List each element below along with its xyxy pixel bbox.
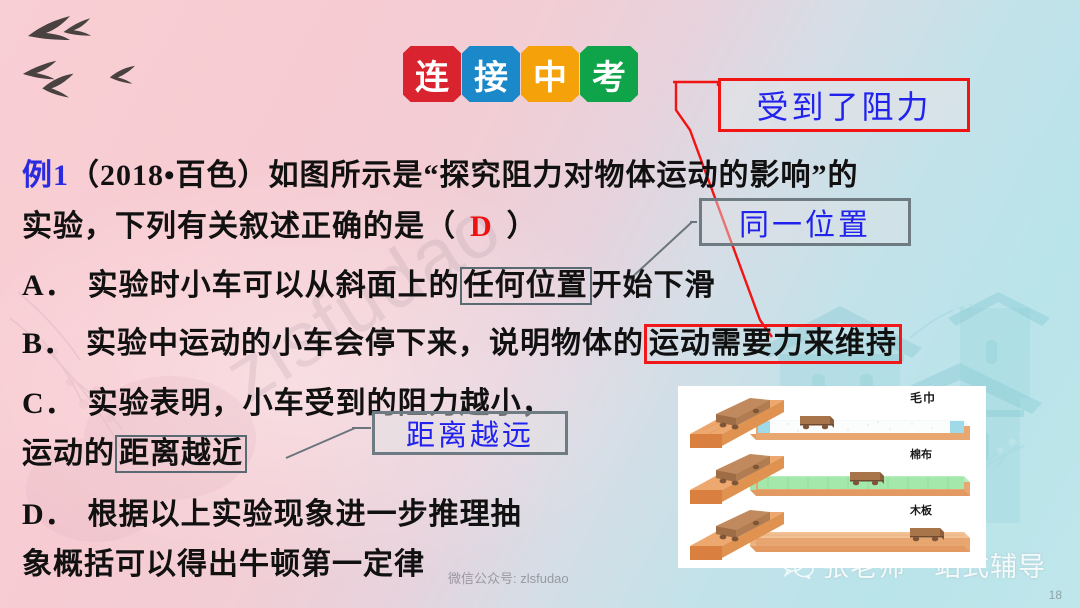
option-c-marker: C． bbox=[22, 387, 76, 420]
answer-letter: D bbox=[456, 210, 507, 243]
page-number: 18 bbox=[1049, 588, 1062, 602]
option-a: A．实验时小车可以从斜面上的任何位置开始下滑 bbox=[22, 260, 716, 305]
option-c-line-2-pre: 运动的 bbox=[22, 437, 115, 470]
birds-decoration bbox=[0, 0, 230, 130]
slide-canvas: zlsfudao 微信公众号: zlsfudao 张老师一站式辅导 18 连 接… bbox=[0, 0, 1080, 608]
annotation-resistance: 受到了阻力 bbox=[718, 78, 970, 132]
example-label: 例1 bbox=[22, 159, 69, 192]
option-d-line-2: 象概括可以得出牛顿第一定律 bbox=[22, 539, 425, 583]
option-d-line-1-text: 根据以上实验现象进一步推理抽 bbox=[88, 498, 522, 531]
question-line-2-post: ） bbox=[507, 210, 538, 243]
title-badge-1: 连 bbox=[403, 46, 461, 102]
option-c-boxed-term: 距离越近 bbox=[115, 435, 247, 473]
question-line-2: 实验，下列有关叙述正确的是（D） bbox=[22, 201, 538, 245]
option-d-marker: D． bbox=[22, 498, 76, 531]
setup-towel: 毛巾 bbox=[690, 390, 970, 448]
title-badge-group: 连 接 中 考 bbox=[403, 46, 638, 102]
figure-label-board: 木板 bbox=[909, 503, 933, 517]
question-line-1-text: （2018•百色）如图所示是“探究阻力对物体运动的影响”的 bbox=[69, 159, 859, 192]
option-b-marker: B． bbox=[22, 327, 74, 360]
figure-label-cloth: 棉布 bbox=[910, 447, 932, 461]
inclined-plane-diagram: 毛巾 bbox=[678, 386, 986, 568]
option-b-pre: 实验中运动的小车会停下来，说明物体的 bbox=[86, 327, 644, 360]
annotation-farther-distance: 距离越远 bbox=[372, 411, 568, 455]
question-line-2-pre: 实验，下列有关叙述正确的是（ bbox=[22, 210, 456, 243]
title-badge-2: 接 bbox=[462, 46, 520, 102]
annotation-same-position: 同一位置 bbox=[699, 198, 911, 246]
question-line-1: 例1（2018•百色）如图所示是“探究阻力对物体运动的影响”的 bbox=[22, 150, 859, 194]
experiment-figure: 毛巾 bbox=[678, 386, 986, 568]
option-d-line-1: D．根据以上实验现象进一步推理抽 bbox=[22, 489, 522, 533]
title-badge-4: 考 bbox=[580, 46, 638, 102]
watermark-wechat-id: 微信公众号: zlsfudao bbox=[448, 568, 569, 587]
option-b-boxed-term: 运动需要力来维持 bbox=[644, 324, 902, 364]
setup-cloth: 棉布 bbox=[690, 447, 970, 504]
option-b: B．实验中运动的小车会停下来，说明物体的运动需要力来维持 bbox=[22, 318, 902, 364]
option-c-line-2: 运动的距离越近 bbox=[22, 428, 247, 473]
figure-label-towel: 毛巾 bbox=[910, 390, 936, 405]
option-d-line-2-text: 象概括可以得出牛顿第一定律 bbox=[22, 548, 425, 581]
title-badge-3: 中 bbox=[521, 46, 579, 102]
option-a-post: 开始下滑 bbox=[592, 269, 716, 302]
option-a-marker: A． bbox=[22, 269, 76, 302]
option-a-pre: 实验时小车可以从斜面上的 bbox=[88, 269, 460, 302]
option-a-boxed-term: 任何位置 bbox=[460, 267, 592, 305]
setup-board: 木板 bbox=[690, 503, 970, 560]
